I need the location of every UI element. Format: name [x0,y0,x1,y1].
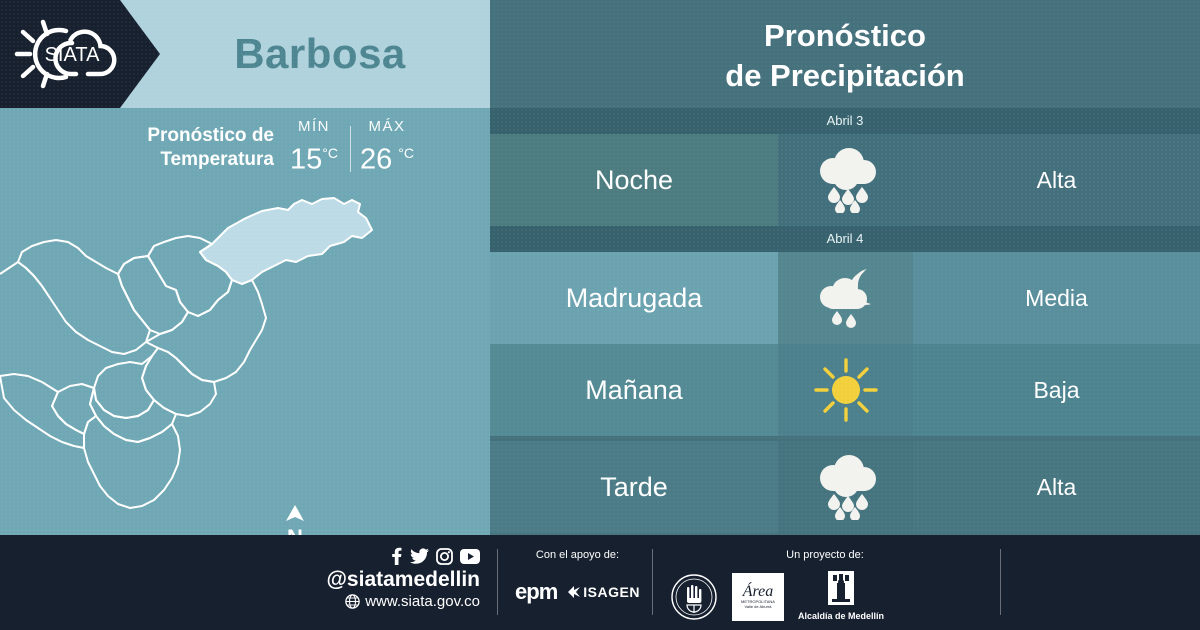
support-block: Con el apoyo de: epm ISAGEN [505,549,650,605]
map-region-copacabana [118,256,188,334]
siata-logo-icon: SIATA [10,14,135,94]
temperature-title-line1: Pronóstico de [147,125,274,146]
social-block: @siatamedellin www.siata.gov.co [300,545,480,610]
alcaldia-logo: Alcaldía de Medellín [798,569,884,621]
isagen-logo: ISAGEN [567,584,640,600]
temperature-min-label: MÍN [278,118,350,135]
precipitation-title-line1: Pronóstico [764,18,926,53]
forecast-row-tarde: Tarde Alta [490,441,1200,533]
temperature-max-value-wrap: 26°C [351,137,423,176]
map-region-caldas [84,416,180,508]
left-panel: Barbosa SIATA Pro [0,0,490,535]
social-icons [300,545,480,567]
project-block: Un proyecto de: Área [660,549,1000,621]
globe-icon [345,594,360,609]
temperature-min-value: 15 [290,144,322,176]
facebook-icon[interactable] [390,547,403,565]
footer-divider-3 [1000,549,1001,615]
temperature-min-unit: °C [322,145,338,161]
temperature-min-value-wrap: 15°C [278,137,350,176]
footer: @siatamedellin www.siata.gov.co Con el a… [0,535,1200,630]
project-logos: Área METROPOLITANA Valle de Aburrá [670,569,1000,621]
temperature-max: MÁX 26°C [351,118,423,176]
alcaldia-crest-icon [824,569,858,609]
rain-cloud-icon [778,441,913,533]
date-label-abril-3: Abril 3 [490,108,1200,134]
temperature-max-value: 26 [360,144,392,176]
temperature-min: MÍN 15°C [278,118,350,176]
area-metropolitana-logo: Área METROPOLITANA Valle de Aburrá [732,573,784,621]
rain-cloud-icon [778,134,913,226]
map-svg [0,180,490,535]
map-boundary-north [0,262,50,298]
area-name: Área [743,585,774,599]
temperature-title: Pronóstico de Temperatura [84,124,274,172]
temperature-max-unit: °C [398,145,414,161]
moon-rain-cloud-icon [778,252,913,344]
forecast-row-manana: Mañana Baja [490,344,1200,436]
website-line[interactable]: www.siata.gov.co [300,593,480,610]
epm-logo: epm [515,579,557,605]
map-region-medellin [146,280,266,382]
support-label: Con el apoyo de: [505,549,650,561]
twitter-icon[interactable] [410,547,429,565]
precipitation-panel: Pronóstico de Precipitación Abril 3 Noch… [490,0,1200,535]
map-region-envigado [142,348,216,416]
map-region-bello [18,240,150,354]
probability-label-madrugada: Media [913,252,1200,344]
forecast-row-noche: Noche Alta [490,134,1200,226]
sun-icon [778,344,913,436]
map-boundary-upper [118,242,164,274]
siata-logo-text: SIATA [45,44,100,66]
period-label-noche: Noche [490,134,778,226]
udea-seal-icon [670,573,718,621]
page-title: Barbosa [150,0,490,108]
probability-label-tarde: Alta [913,441,1200,533]
period-label-manana: Mañana [490,344,778,436]
temperature-max-label: MÁX [351,118,423,135]
youtube-icon[interactable] [460,549,480,564]
temperature-block: Pronóstico de Temperatura MÍN 15°C MÁX 2… [0,108,490,188]
project-label: Un proyecto de: [710,549,940,561]
probability-label-manana: Baja [913,344,1200,436]
north-arrow-icon [283,505,307,523]
footer-divider-2 [652,549,653,615]
support-logos: epm ISAGEN [505,579,650,605]
social-handle[interactable]: @siatamedellin [300,568,480,592]
alcaldia-name: Alcaldía de Medellín [798,611,884,621]
instagram-icon[interactable] [436,548,453,565]
precipitation-title: Pronóstico de Precipitación [490,16,1200,96]
temperature-values: MÍN 15°C MÁX 26°C [278,118,423,176]
precipitation-title-line2: de Precipitación [725,58,964,93]
probability-label-noche: Alta [913,134,1200,226]
footer-divider-1 [497,549,498,615]
area-sub2: Valle de Aburrá [744,604,771,609]
infographic-root: Barbosa SIATA Pro [0,0,1200,630]
date-label-abril-4: Abril 4 [490,226,1200,252]
isagen-mark-icon [567,585,581,599]
temperature-title-line2: Temperatura [160,149,274,170]
period-label-madrugada: Madrugada [490,252,778,344]
map-region-sabaneta [90,388,176,442]
website-url[interactable]: www.siata.gov.co [365,593,480,610]
period-label-tarde: Tarde [490,441,778,533]
aburra-valley-map: N [0,180,490,535]
forecast-row-madrugada: Madrugada Media [490,252,1200,344]
